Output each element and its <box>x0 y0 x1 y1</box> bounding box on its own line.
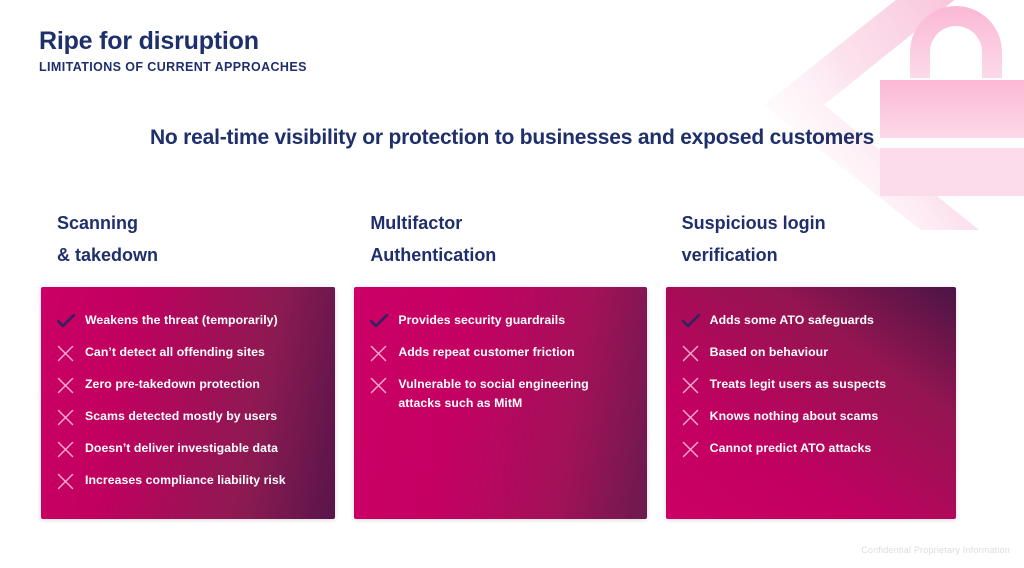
column-heading: Multifactor Authentication <box>354 208 646 287</box>
card-scanning-takedown: Weakens the threat (temporarily) Can’t d… <box>41 287 335 519</box>
check-icon <box>682 311 710 330</box>
cross-icon <box>370 343 398 362</box>
cross-icon <box>682 407 710 426</box>
column-heading-line1: Scanning <box>57 208 335 240</box>
list-item-label: Zero pre-takedown protection <box>85 375 260 394</box>
cross-icon <box>682 343 710 362</box>
column-heading-line1: Suspicious login <box>682 208 956 240</box>
list-item: Adds repeat customer friction <box>370 343 630 362</box>
list-item: Vulnerable to social engineering attacks… <box>370 375 630 412</box>
decor-svg <box>680 0 1024 230</box>
list-item: Increases compliance liability risk <box>57 471 319 490</box>
list-item-label: Weakens the threat (temporarily) <box>85 311 278 330</box>
list-item-label: Treats legit users as suspects <box>710 375 886 394</box>
list-item-label: Doesn’t deliver investigable data <box>85 439 278 458</box>
slide-header: Ripe for disruption LIMITATIONS OF CURRE… <box>39 26 307 74</box>
list-item: Scams detected mostly by users <box>57 407 319 426</box>
headline-statement: No real-time visibility or protection to… <box>0 126 1024 150</box>
list-item: Zero pre-takedown protection <box>57 375 319 394</box>
list-item-label: Adds some ATO safeguards <box>710 311 874 330</box>
list-item: Doesn’t deliver investigable data <box>57 439 319 458</box>
cross-icon <box>57 439 85 458</box>
list-item: Treats legit users as suspects <box>682 375 940 394</box>
column-suspicious-login-verification: Suspicious login verification Adds some … <box>666 208 956 519</box>
column-heading: Suspicious login verification <box>666 208 956 287</box>
cross-icon <box>682 439 710 458</box>
list-item: Can’t detect all offending sites <box>57 343 319 362</box>
cross-icon <box>370 375 398 394</box>
column-heading-line1: Multifactor <box>370 208 646 240</box>
list-item-label: Scams detected mostly by users <box>85 407 277 426</box>
comparison-columns: Scanning & takedown Weakens the threat (… <box>41 208 956 519</box>
cross-icon <box>57 471 85 490</box>
cross-icon <box>57 407 85 426</box>
list-item-label: Knows nothing about scams <box>710 407 879 426</box>
list-item: Adds some ATO safeguards <box>682 311 940 330</box>
list-item-label: Increases compliance liability risk <box>85 471 286 490</box>
page-subtitle: LIMITATIONS OF CURRENT APPROACHES <box>39 60 307 74</box>
list-item-label: Adds repeat customer friction <box>398 343 574 362</box>
column-heading: Scanning & takedown <box>41 208 335 287</box>
cross-icon <box>682 375 710 394</box>
chevron-left-icon <box>788 0 980 230</box>
list-item-label: Based on behaviour <box>710 343 828 362</box>
padlock-icon <box>880 6 1024 196</box>
list-item: Provides security guardrails <box>370 311 630 330</box>
list-item-label: Vulnerable to social engineering attacks… <box>398 375 630 412</box>
column-multifactor-authentication: Multifactor Authentication Provides secu… <box>354 208 646 519</box>
card-multifactor-authentication: Provides security guardrails Adds repeat… <box>354 287 646 519</box>
column-heading-line2: & takedown <box>57 240 335 272</box>
column-scanning-takedown: Scanning & takedown Weakens the threat (… <box>41 208 335 519</box>
list-item: Weakens the threat (temporarily) <box>57 311 319 330</box>
list-item: Cannot predict ATO attacks <box>682 439 940 458</box>
confidentiality-notice: Confidential Proprietary Information <box>861 545 1010 555</box>
list-item-label: Provides security guardrails <box>398 311 565 330</box>
cross-icon <box>57 343 85 362</box>
list-item: Based on behaviour <box>682 343 940 362</box>
check-icon <box>370 311 398 330</box>
column-heading-line2: verification <box>682 240 956 272</box>
check-icon <box>57 311 85 330</box>
cross-icon <box>57 375 85 394</box>
list-item-label: Cannot predict ATO attacks <box>710 439 872 458</box>
list-item-label: Can’t detect all offending sites <box>85 343 265 362</box>
card-suspicious-login-verification: Adds some ATO safeguards Based on behavi… <box>666 287 956 519</box>
column-heading-line2: Authentication <box>370 240 646 272</box>
page-title: Ripe for disruption <box>39 26 307 56</box>
list-item: Knows nothing about scams <box>682 407 940 426</box>
